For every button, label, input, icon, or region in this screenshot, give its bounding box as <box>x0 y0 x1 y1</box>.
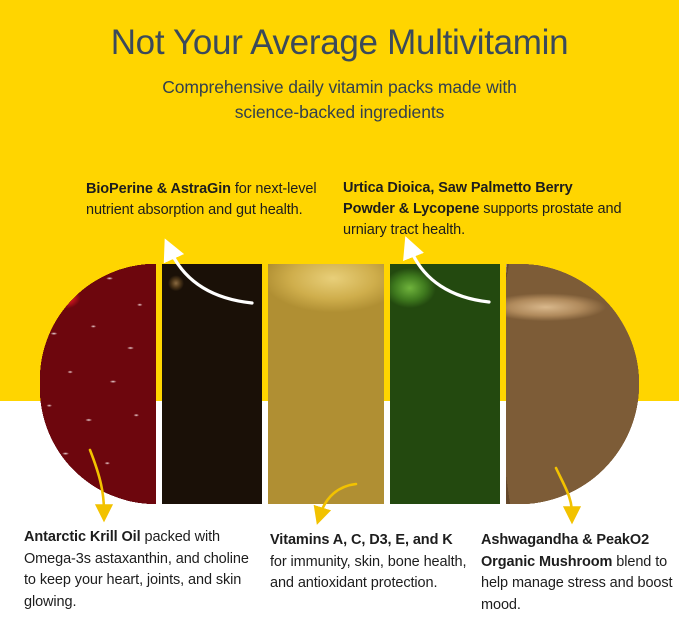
arrow-to-vitamins <box>320 484 356 515</box>
arrow-to-ashwagandha <box>556 468 572 514</box>
callout-krill: Antarctic Krill Oil packed with Omega-3s… <box>24 527 254 613</box>
subtitle-line-2: science-backed ingredients <box>0 100 679 125</box>
callout-vitamins: Vitamins A, C, D3, E, and K for immunity… <box>270 530 470 595</box>
infographic-root: Not Your Average Multivitamin Comprehens… <box>0 0 679 624</box>
callout-urtica: Urtica Dioica, Saw Palmetto Berry Powder… <box>343 178 623 241</box>
arrow-to-krill <box>90 450 104 512</box>
callout-ashwagandha: Ashwagandha & PeakO2 Organic Mushroom bl… <box>481 530 676 616</box>
page-subtitle: Comprehensive daily vitamin packs made w… <box>0 75 679 125</box>
header: Not Your Average Multivitamin Comprehens… <box>0 0 679 125</box>
callout-vitamins-rest: for immunity, skin, bone health, and ant… <box>270 554 466 592</box>
callout-bioperine: BioPerine & AstraGin for next-level nutr… <box>86 179 336 221</box>
subtitle-line-1: Comprehensive daily vitamin packs made w… <box>0 75 679 100</box>
callout-krill-bold: Antarctic Krill Oil <box>24 529 141 545</box>
page-title: Not Your Average Multivitamin <box>0 23 679 63</box>
callout-bioperine-bold: BioPerine & AstraGin <box>86 181 231 197</box>
callout-vitamins-bold: Vitamins A, C, D3, E, and K <box>270 532 453 548</box>
